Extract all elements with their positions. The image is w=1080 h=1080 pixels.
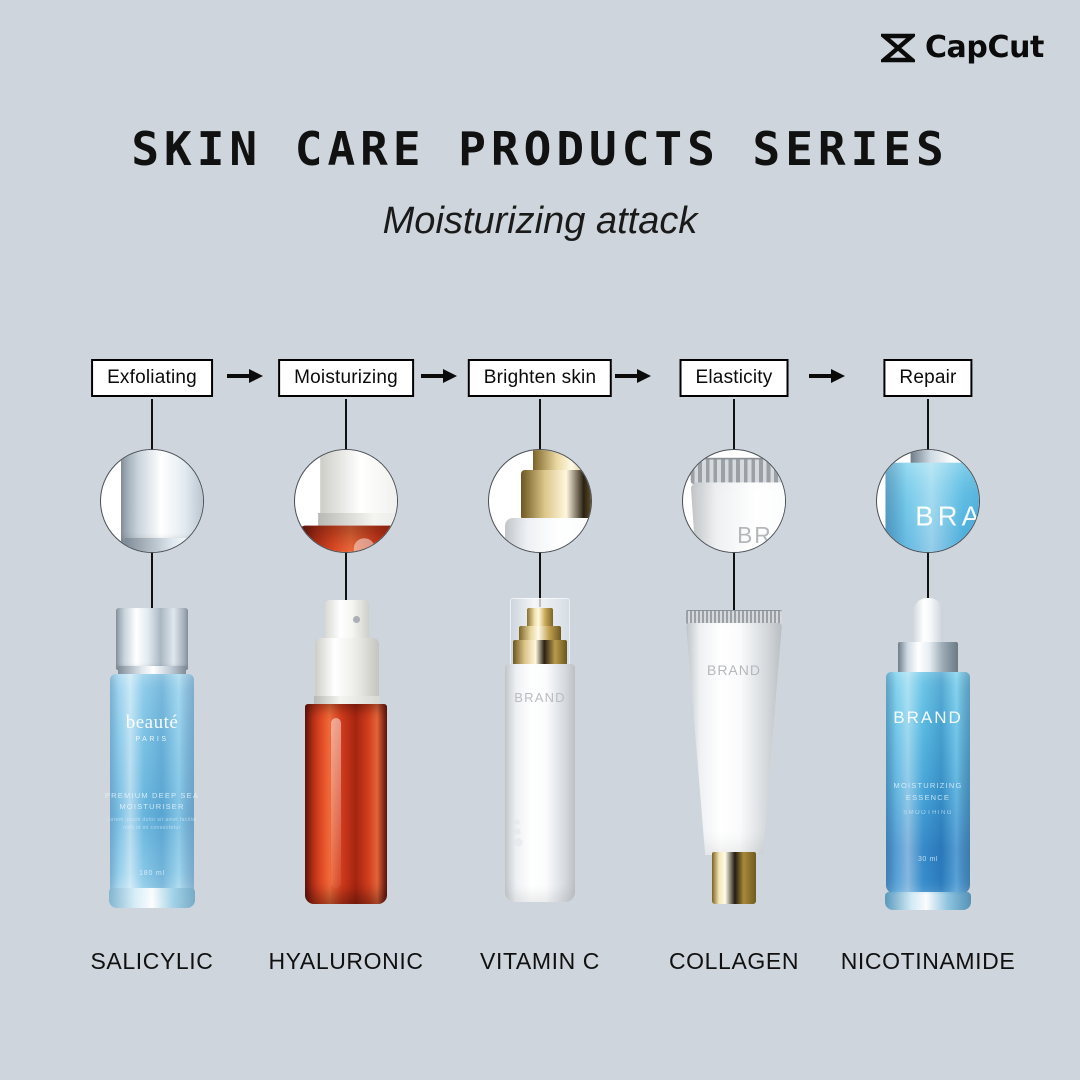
- magnifier-callout-hyaluronic: [294, 449, 398, 553]
- product-column-collagen: Elasticity BRAND BRAND COLLAGEN: [637, 0, 831, 1080]
- zoomed-product-fragment: BRAND: [682, 449, 786, 553]
- dropper-collar: [898, 642, 958, 674]
- spray-nozzle-top: [325, 600, 369, 642]
- bottle-base: [885, 892, 971, 910]
- product-column-salicylic: Exfoliating beauté PARIS beauté PARIS PR: [55, 0, 249, 1080]
- product-name-hyaluronic: HYALURONIC: [268, 948, 423, 975]
- magnifier-content: BRAND: [683, 450, 786, 553]
- product-column-nicotinamide: Repair BRAND BRAND MOISTURIZING ESSENCE …: [831, 0, 1025, 1080]
- spray-pump-shoulder: [315, 638, 379, 704]
- product-column-hyaluronic: Moisturizing HYALURONIC: [249, 0, 443, 1080]
- dropper-bulb: [913, 598, 943, 646]
- step-label-repair[interactable]: Repair: [883, 359, 972, 397]
- magnifier-callout-collagen: BRAND: [682, 449, 786, 553]
- zoom-brand-text: BRAND: [876, 500, 980, 532]
- zoomed-product-fragment: BRAND: [497, 449, 592, 553]
- product-name-salicylic: SALICYLIC: [90, 948, 213, 975]
- zoomed-product-fragment: beauté PARIS: [100, 449, 204, 553]
- tube-body: [686, 623, 782, 855]
- magnifier-content: BRAND: [489, 450, 592, 553]
- magnifier-content: BRAND: [877, 450, 980, 553]
- step-label-exfoliating[interactable]: Exfoliating: [91, 359, 213, 397]
- product-column-vitamin-c: Brighten skin BRAND BRAND VITAMIN C: [443, 0, 637, 1080]
- step-label-elasticity[interactable]: Elasticity: [680, 359, 789, 397]
- bottle-subtext: SMOOTHING: [880, 810, 976, 816]
- product-image-nicotinamide: BRAND MOISTURIZING ESSENCE SMOOTHING 30 …: [831, 590, 1025, 920]
- bottle-origin-text: PARIS: [104, 736, 200, 743]
- magnifier-callout-vitamin-c: BRAND: [488, 449, 592, 553]
- magnifier-callout-salicylic: beauté PARIS: [100, 449, 204, 553]
- bottle-body: [110, 674, 194, 900]
- product-image-hyaluronic: [249, 590, 443, 920]
- bottle-decorative-dots: [515, 820, 522, 851]
- bottle-subtext: Lorem ipsum dolor sit amet facilisi nibh…: [104, 816, 200, 832]
- product-image-collagen: BRAND: [637, 590, 831, 920]
- bottle-description-text: MOISTURIZING ESSENCE: [880, 780, 976, 804]
- product-name-collagen: COLLAGEN: [669, 948, 799, 975]
- zoom-brand-text: BRAND: [682, 522, 786, 549]
- bottle-brand-text: BRAND: [880, 708, 976, 728]
- product-name-vitamin-c: VITAMIN C: [480, 948, 600, 975]
- bottle-volume-text: 30 ml: [880, 856, 976, 863]
- zoomed-product-fragment: [294, 449, 398, 553]
- zoomed-product-fragment: BRAND: [876, 449, 980, 553]
- product-name-nicotinamide: NICOTINAMIDE: [841, 948, 1016, 975]
- bottle-volume-text: 180 ml: [104, 870, 200, 877]
- tube-gold-cap: [712, 852, 756, 904]
- bottle-brand-text: BRAND: [501, 690, 579, 705]
- product-image-vitamin-c: BRAND: [443, 590, 637, 920]
- step-label-brighten-skin[interactable]: Brighten skin: [468, 359, 612, 397]
- bottle-highlight: [331, 718, 341, 888]
- magnifier-content: [295, 450, 398, 553]
- step-label-moisturizing[interactable]: Moisturizing: [278, 359, 414, 397]
- bottle-body: [305, 704, 387, 904]
- product-image-salicylic: beauté PARIS PREMIUM DEEP SEA MOISTURISE…: [55, 590, 249, 920]
- magnifier-content: beauté PARIS: [101, 450, 204, 553]
- tube-brand-text: BRAND: [678, 662, 790, 678]
- spray-nozzle-hole: [353, 616, 360, 623]
- bottle-description-text: PREMIUM DEEP SEA MOISTURISER: [104, 790, 200, 812]
- magnifier-callout-nicotinamide: BRAND: [876, 449, 980, 553]
- bottle-cap: [116, 608, 188, 670]
- bottle-brand-text: beauté: [104, 712, 200, 734]
- bottle-base: [109, 888, 195, 908]
- gold-pump-base: [513, 640, 567, 666]
- tube-crimp-seal: [686, 610, 782, 624]
